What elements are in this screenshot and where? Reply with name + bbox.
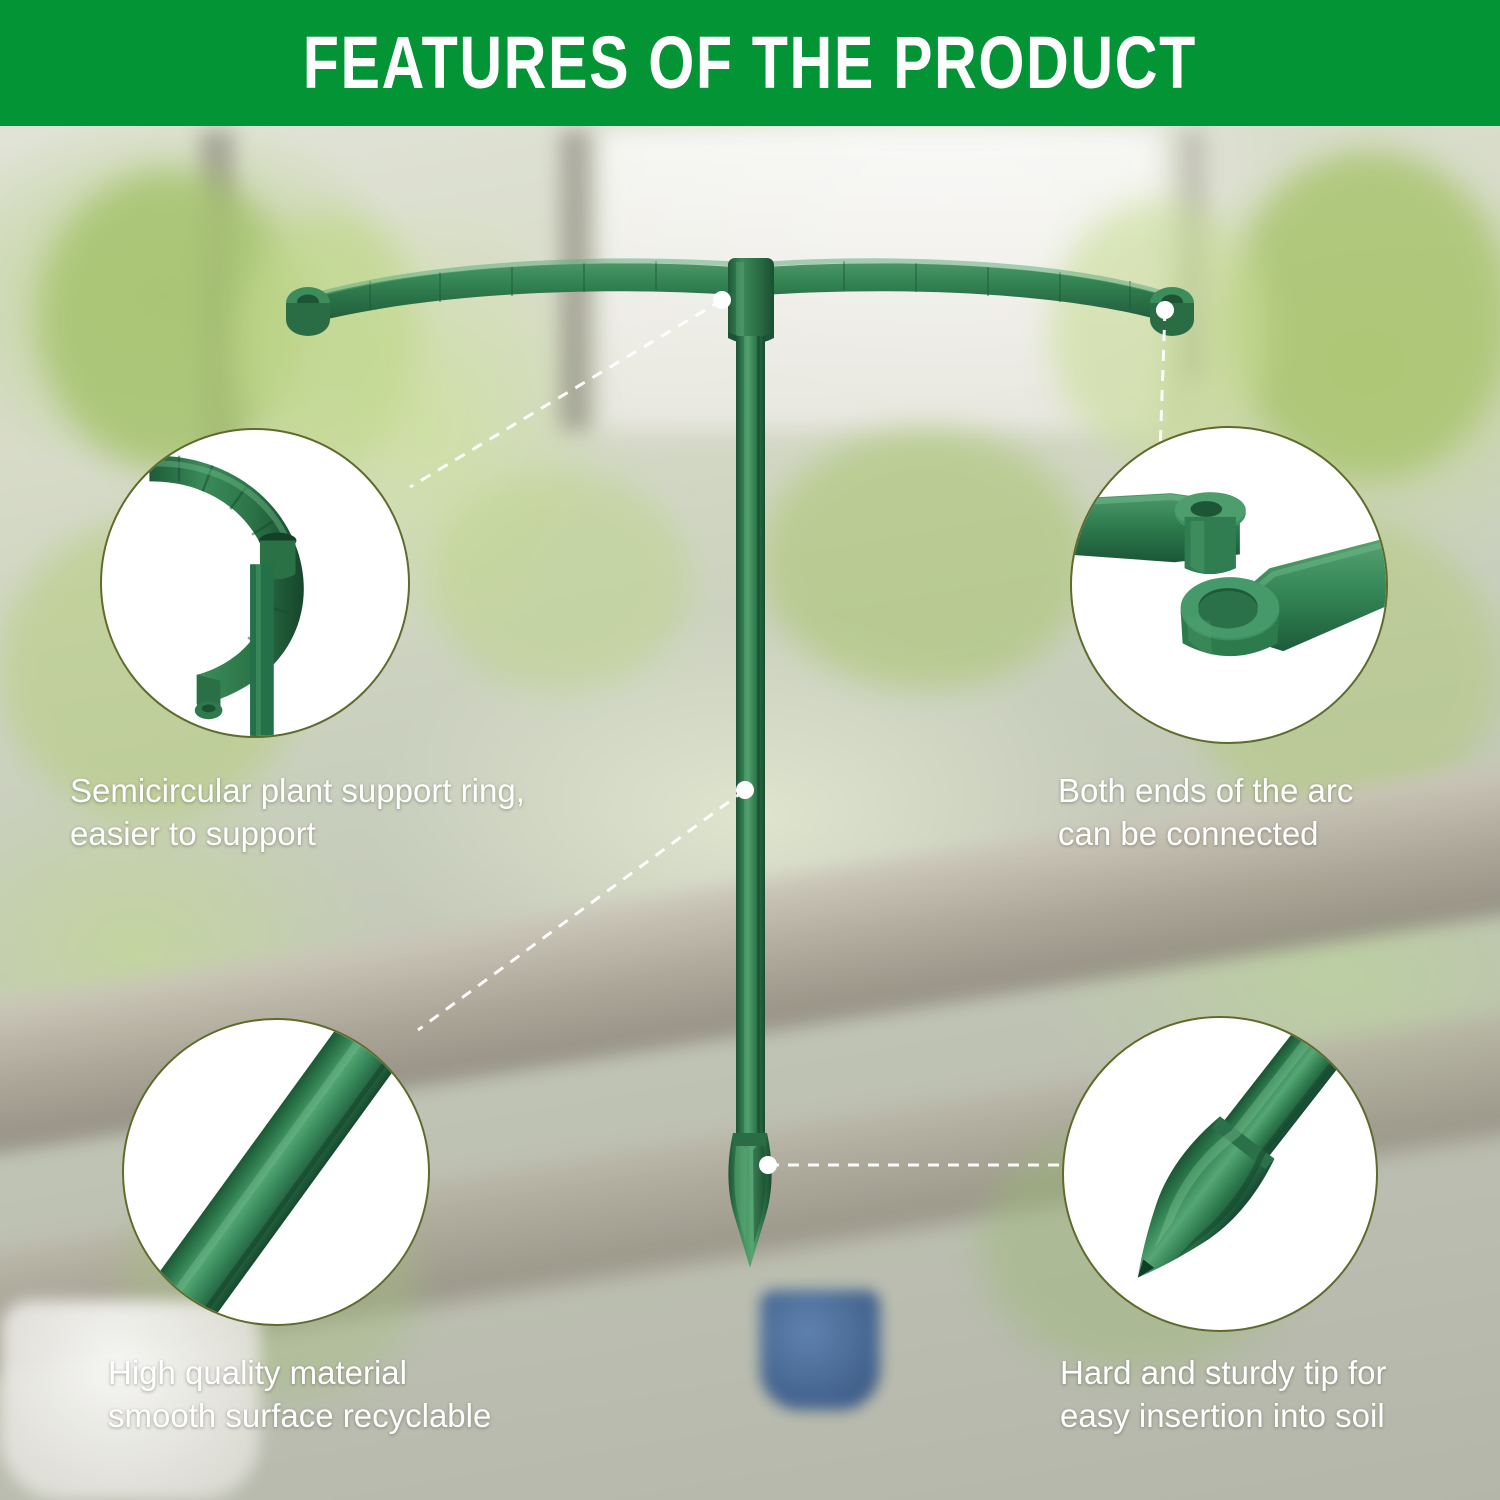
detail-connector [1072,428,1386,742]
anchor-dot-eyelet [1156,301,1174,319]
anchor-dot-tip [759,1156,777,1174]
callout-circle-bottom-right [1062,1016,1378,1332]
caption-bottom-right: Hard and sturdy tip for easy insertion i… [1060,1352,1490,1438]
callout-circle-top-left [100,428,410,738]
anchor-dot-collar [713,291,731,309]
caption-top-left: Semicircular plant support ring, easier … [70,770,630,856]
anchor-dot-rod [736,781,754,799]
header-banner: FEATURES OF THE PRODUCT [0,0,1500,126]
detail-arc-joint [102,430,408,736]
callout-circle-top-right [1070,426,1388,744]
detail-pointed-tip [1064,1018,1376,1330]
detail-smooth-rod [124,1020,428,1324]
caption-top-right: Both ends of the arc can be connected [1058,770,1478,856]
page-title: FEATURES OF THE PRODUCT [303,26,1197,100]
callout-circle-bottom-left [122,1018,430,1326]
product-feature-image: FEATURES OF THE PRODUCT [0,0,1500,1500]
leader-line-top-left [410,300,722,487]
caption-bottom-left: High quality material smooth surface rec… [108,1352,628,1438]
